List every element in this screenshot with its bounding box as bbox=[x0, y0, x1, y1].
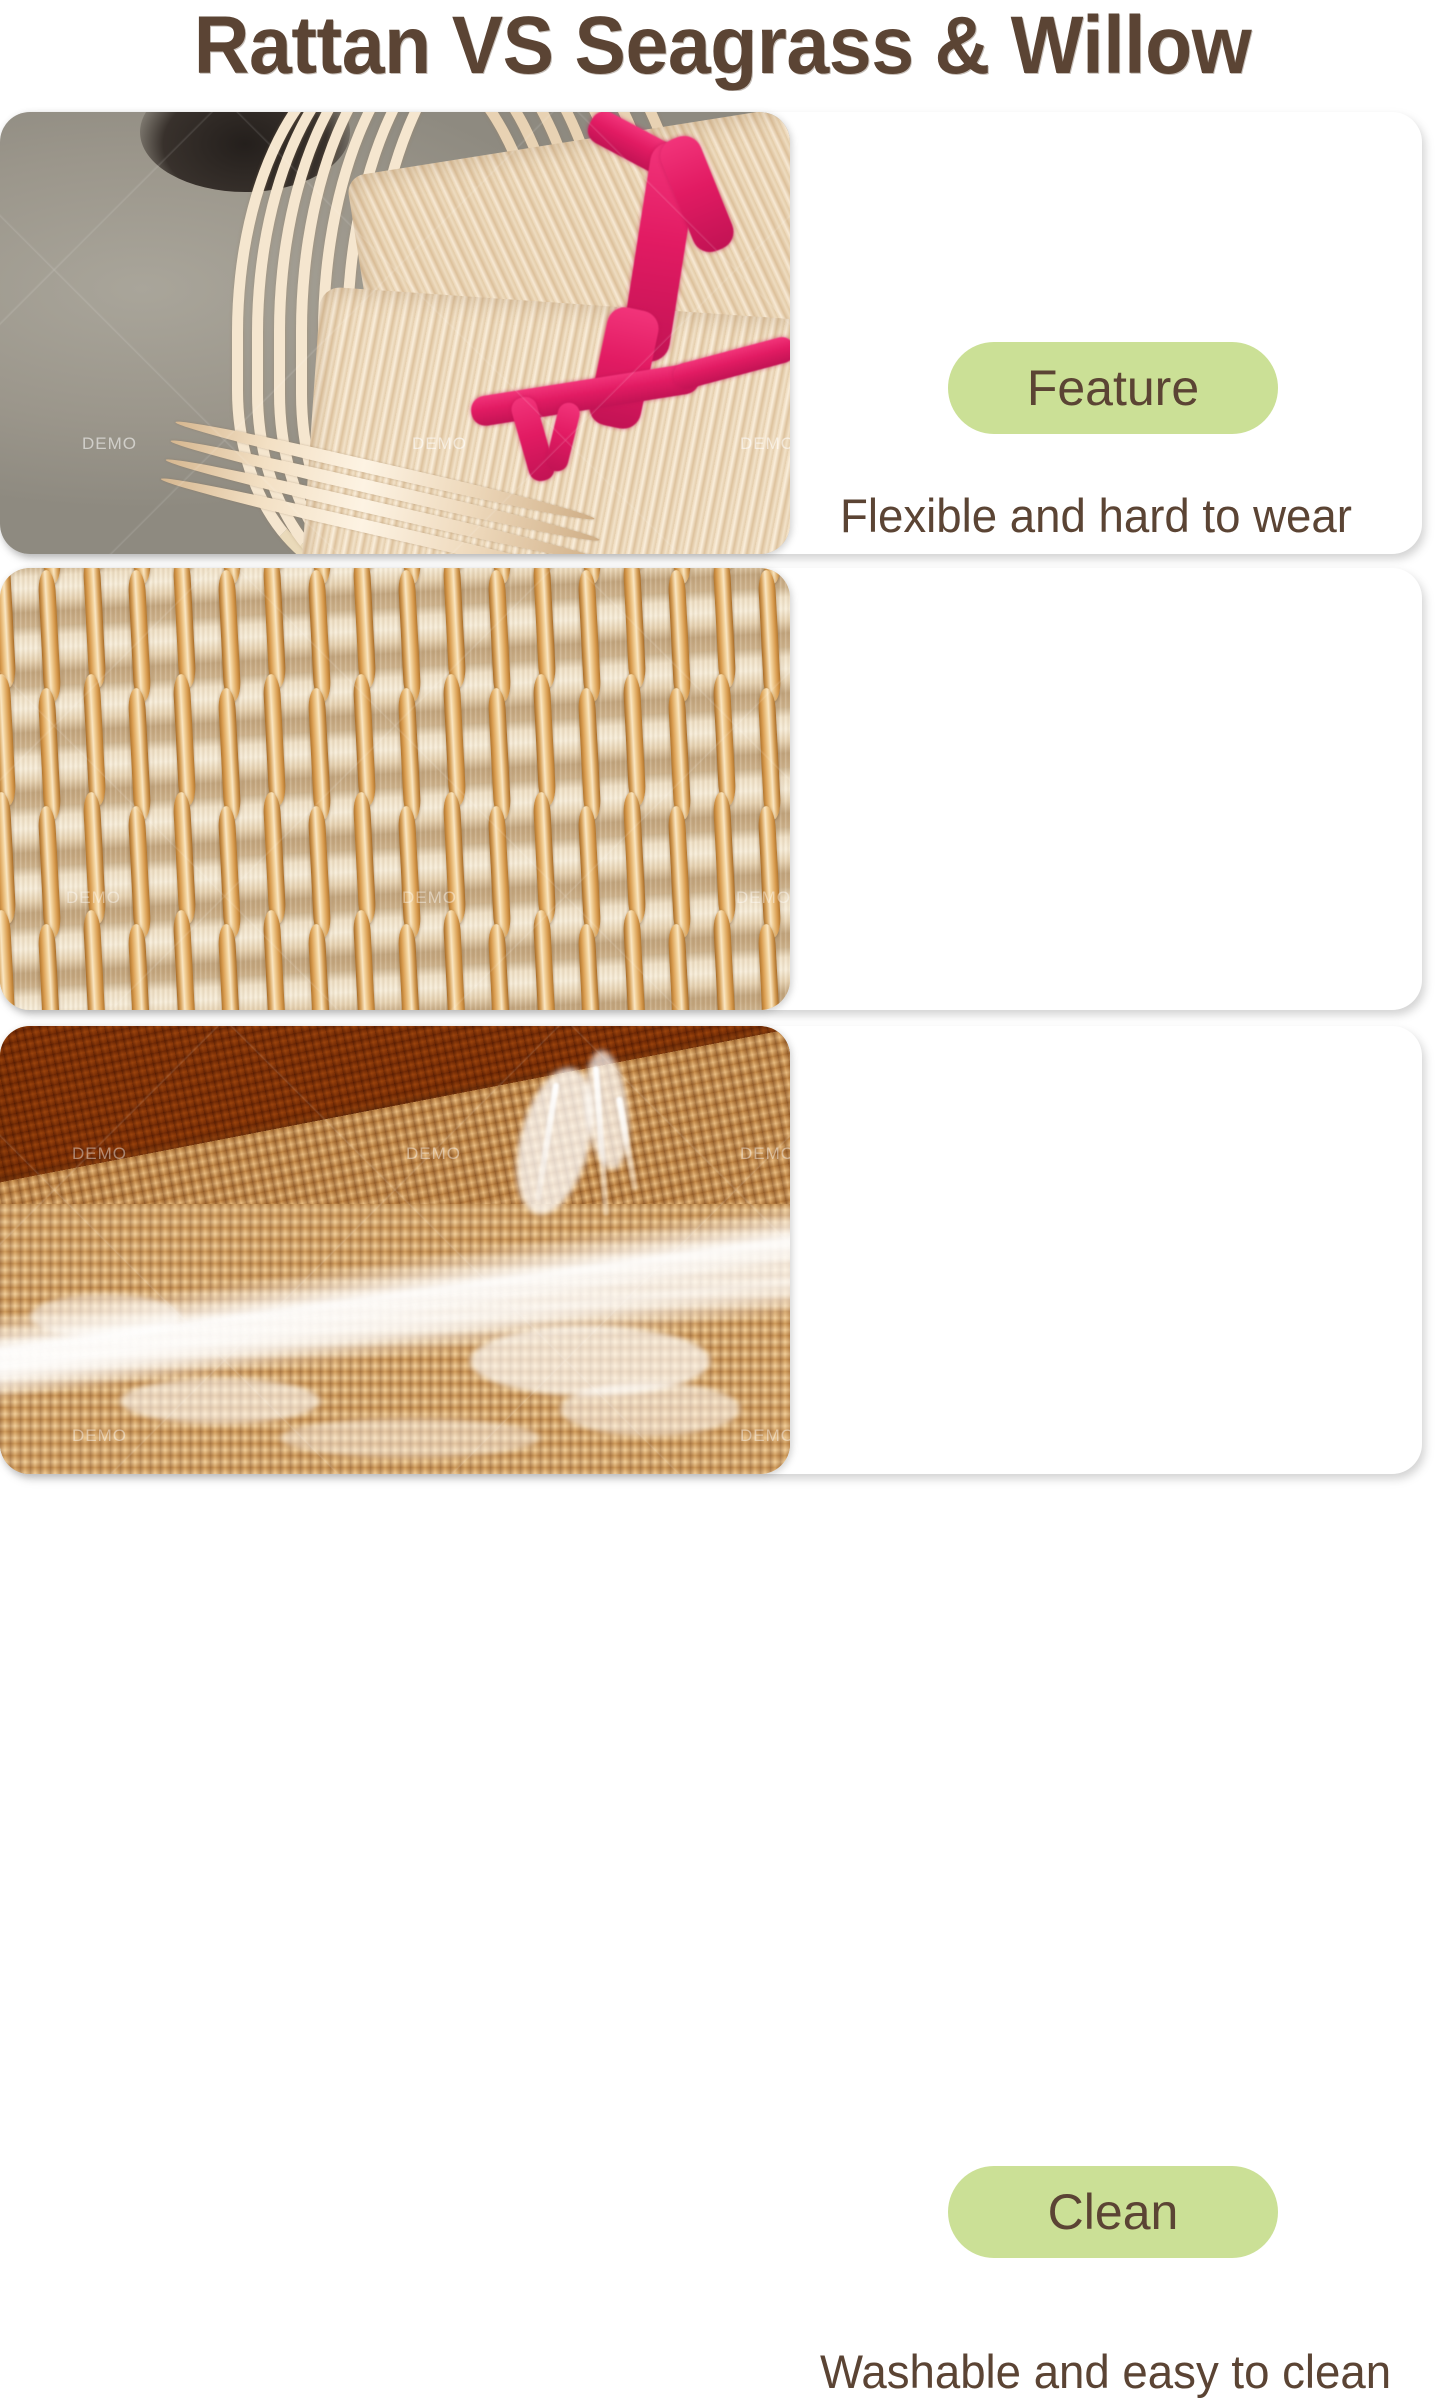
page-title: Rattan VS Seagrass & Willow bbox=[43, 0, 1401, 94]
feature-card: DEMO DEMO DEMO Feature Flexible and hard… bbox=[0, 112, 1422, 554]
row-image-feature: DEMO DEMO DEMO bbox=[0, 112, 790, 554]
row-description-clean: Washable and easy to clean bbox=[820, 2346, 1391, 2398]
row-label-clean: Clean bbox=[948, 2166, 1278, 2258]
durability-card: DEMO DEMO DEMO Durability Tightly woven … bbox=[0, 568, 1422, 1010]
row-image-durability: DEMO DEMO DEMO bbox=[0, 568, 790, 1010]
row-label-feature: Feature bbox=[948, 342, 1278, 434]
row-description-feature: Flexible and hard to wear bbox=[840, 490, 1352, 542]
clean-card: DEMO DEMO DEMO DEMO DEMO Clean Washable … bbox=[0, 1026, 1422, 1474]
row-image-clean: DEMO DEMO DEMO DEMO DEMO bbox=[0, 1026, 790, 1474]
